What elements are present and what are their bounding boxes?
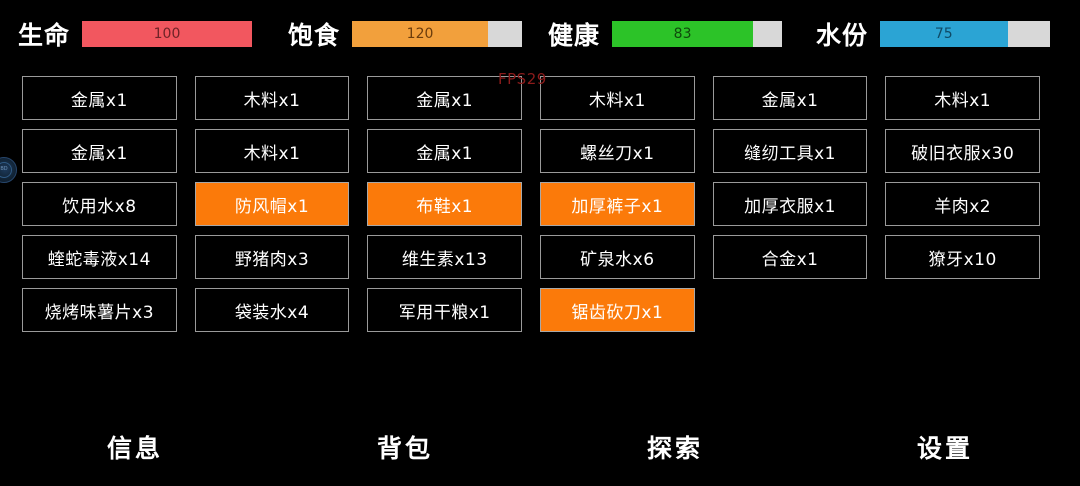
inventory-item-label: 锯齿砍刀x1	[571, 298, 663, 323]
inventory-item[interactable]: 缝纫工具x1	[713, 129, 868, 173]
inventory-item[interactable]: 加厚裤子x1	[540, 182, 695, 226]
inventory-item-label: 烧烤味薯片x3	[45, 298, 154, 323]
stat-satiety: 饱食 120	[288, 16, 522, 52]
stat-health-label: 生命	[18, 16, 70, 52]
inventory-slot-empty	[885, 288, 1040, 332]
inventory-item[interactable]: 金属x1	[367, 129, 522, 173]
inventory-item[interactable]: 木料x1	[540, 76, 695, 120]
inventory-item[interactable]: 饮用水x8	[22, 182, 177, 226]
inventory-item-label: 饮用水x8	[62, 192, 136, 217]
inventory-item-label: 木料x1	[934, 86, 991, 111]
inventory-item[interactable]: 木料x1	[885, 76, 1040, 120]
inventory-item-label: 合金x1	[762, 245, 819, 270]
inventory-item-label: 军用干粮x1	[399, 298, 491, 323]
inventory-row: 金属x1木料x1金属x1螺丝刀x1缝纫工具x1破旧衣服x30	[22, 129, 1058, 182]
status-bar: 生命 100 饱食 120 健康 83 水份 75	[0, 0, 1080, 62]
bottom-nav: 信息 背包 探索 设置	[0, 408, 1080, 486]
inventory-item-label: 布鞋x1	[416, 192, 473, 217]
inventory-item[interactable]: 加厚衣服x1	[713, 182, 868, 226]
inventory-item-label: 金属x1	[416, 139, 473, 164]
inventory-item-label: 野猪肉x3	[235, 245, 309, 270]
stat-hydration-label: 水份	[816, 16, 868, 52]
inventory-item[interactable]: 防风帽x1	[195, 182, 350, 226]
inventory-item-label: 袋装水x4	[235, 298, 309, 323]
inventory-item[interactable]: 獠牙x10	[885, 235, 1040, 279]
inventory-item[interactable]: 金属x1	[22, 76, 177, 120]
inventory-item-label: 金属x1	[416, 86, 473, 111]
stat-stamina-label: 健康	[548, 16, 600, 52]
inventory-slot-empty	[713, 288, 868, 332]
inventory-item-label: 维生素x13	[402, 245, 488, 270]
inventory-item-label: 金属x1	[71, 139, 128, 164]
inventory-item[interactable]: 烧烤味薯片x3	[22, 288, 177, 332]
stat-stamina-track: 83	[612, 21, 782, 47]
stat-hydration-track: 75	[880, 21, 1050, 47]
watermark-label: BD	[0, 166, 16, 172]
inventory-item-label: 木料x1	[244, 139, 301, 164]
inventory-item-label: 破旧衣服x30	[911, 139, 1014, 164]
inventory-item-label: 加厚裤子x1	[571, 192, 663, 217]
inventory-item[interactable]: 金属x1	[22, 129, 177, 173]
inventory-item-label: 加厚衣服x1	[744, 192, 836, 217]
inventory-row: 蝰蛇毒液x14野猪肉x3维生素x13矿泉水x6合金x1獠牙x10	[22, 235, 1058, 288]
inventory-row: 烧烤味薯片x3袋装水x4军用干粮x1锯齿砍刀x1	[22, 288, 1058, 341]
stat-hydration-value: 75	[880, 21, 1008, 47]
stat-health-track: 100	[82, 21, 252, 47]
inventory-item-label: 螺丝刀x1	[580, 139, 654, 164]
nav-item-explore[interactable]: 探索	[540, 429, 810, 465]
nav-item-settings[interactable]: 设置	[810, 429, 1080, 465]
inventory-row: 饮用水x8防风帽x1布鞋x1加厚裤子x1加厚衣服x1羊肉x2	[22, 182, 1058, 235]
inventory-item[interactable]: 合金x1	[713, 235, 868, 279]
inventory-item[interactable]: 野猪肉x3	[195, 235, 350, 279]
inventory-item-label: 蝰蛇毒液x14	[48, 245, 151, 270]
stat-satiety-track: 120	[352, 21, 522, 47]
inventory-item-label: 獠牙x10	[929, 245, 997, 270]
stat-health-value: 100	[82, 21, 252, 47]
fps-counter: FPS29	[498, 70, 547, 88]
inventory-item[interactable]: 蝰蛇毒液x14	[22, 235, 177, 279]
inventory-item-label: 金属x1	[762, 86, 819, 111]
inventory-item[interactable]: 羊肉x2	[885, 182, 1040, 226]
inventory-item[interactable]: 木料x1	[195, 129, 350, 173]
inventory-item-label: 木料x1	[244, 86, 301, 111]
stat-stamina: 健康 83	[548, 16, 782, 52]
nav-item-info[interactable]: 信息	[0, 429, 270, 465]
inventory-item-label: 防风帽x1	[235, 192, 309, 217]
inventory-item-label: 矿泉水x6	[580, 245, 654, 270]
inventory-item[interactable]: 螺丝刀x1	[540, 129, 695, 173]
nav-item-backpack[interactable]: 背包	[270, 429, 540, 465]
inventory-item-label: 木料x1	[589, 86, 646, 111]
inventory-grid: 金属x1木料x1金属x1木料x1金属x1木料x1金属x1木料x1金属x1螺丝刀x…	[0, 76, 1080, 341]
inventory-item[interactable]: 木料x1	[195, 76, 350, 120]
inventory-item[interactable]: 布鞋x1	[367, 182, 522, 226]
inventory-item[interactable]: 破旧衣服x30	[885, 129, 1040, 173]
stat-satiety-value: 120	[352, 21, 488, 47]
stat-hydration: 水份 75	[816, 16, 1050, 52]
inventory-item[interactable]: 袋装水x4	[195, 288, 350, 332]
stat-health: 生命 100	[18, 16, 252, 52]
inventory-item-label: 缝纫工具x1	[744, 139, 836, 164]
inventory-item-label: 羊肉x2	[934, 192, 991, 217]
inventory-item-label: 金属x1	[71, 86, 128, 111]
stat-satiety-label: 饱食	[288, 16, 340, 52]
inventory-item[interactable]: 矿泉水x6	[540, 235, 695, 279]
inventory-item[interactable]: 金属x1	[713, 76, 868, 120]
inventory-item[interactable]: 维生素x13	[367, 235, 522, 279]
inventory-item[interactable]: 军用干粮x1	[367, 288, 522, 332]
inventory-item[interactable]: 锯齿砍刀x1	[540, 288, 695, 332]
stat-stamina-value: 83	[612, 21, 753, 47]
